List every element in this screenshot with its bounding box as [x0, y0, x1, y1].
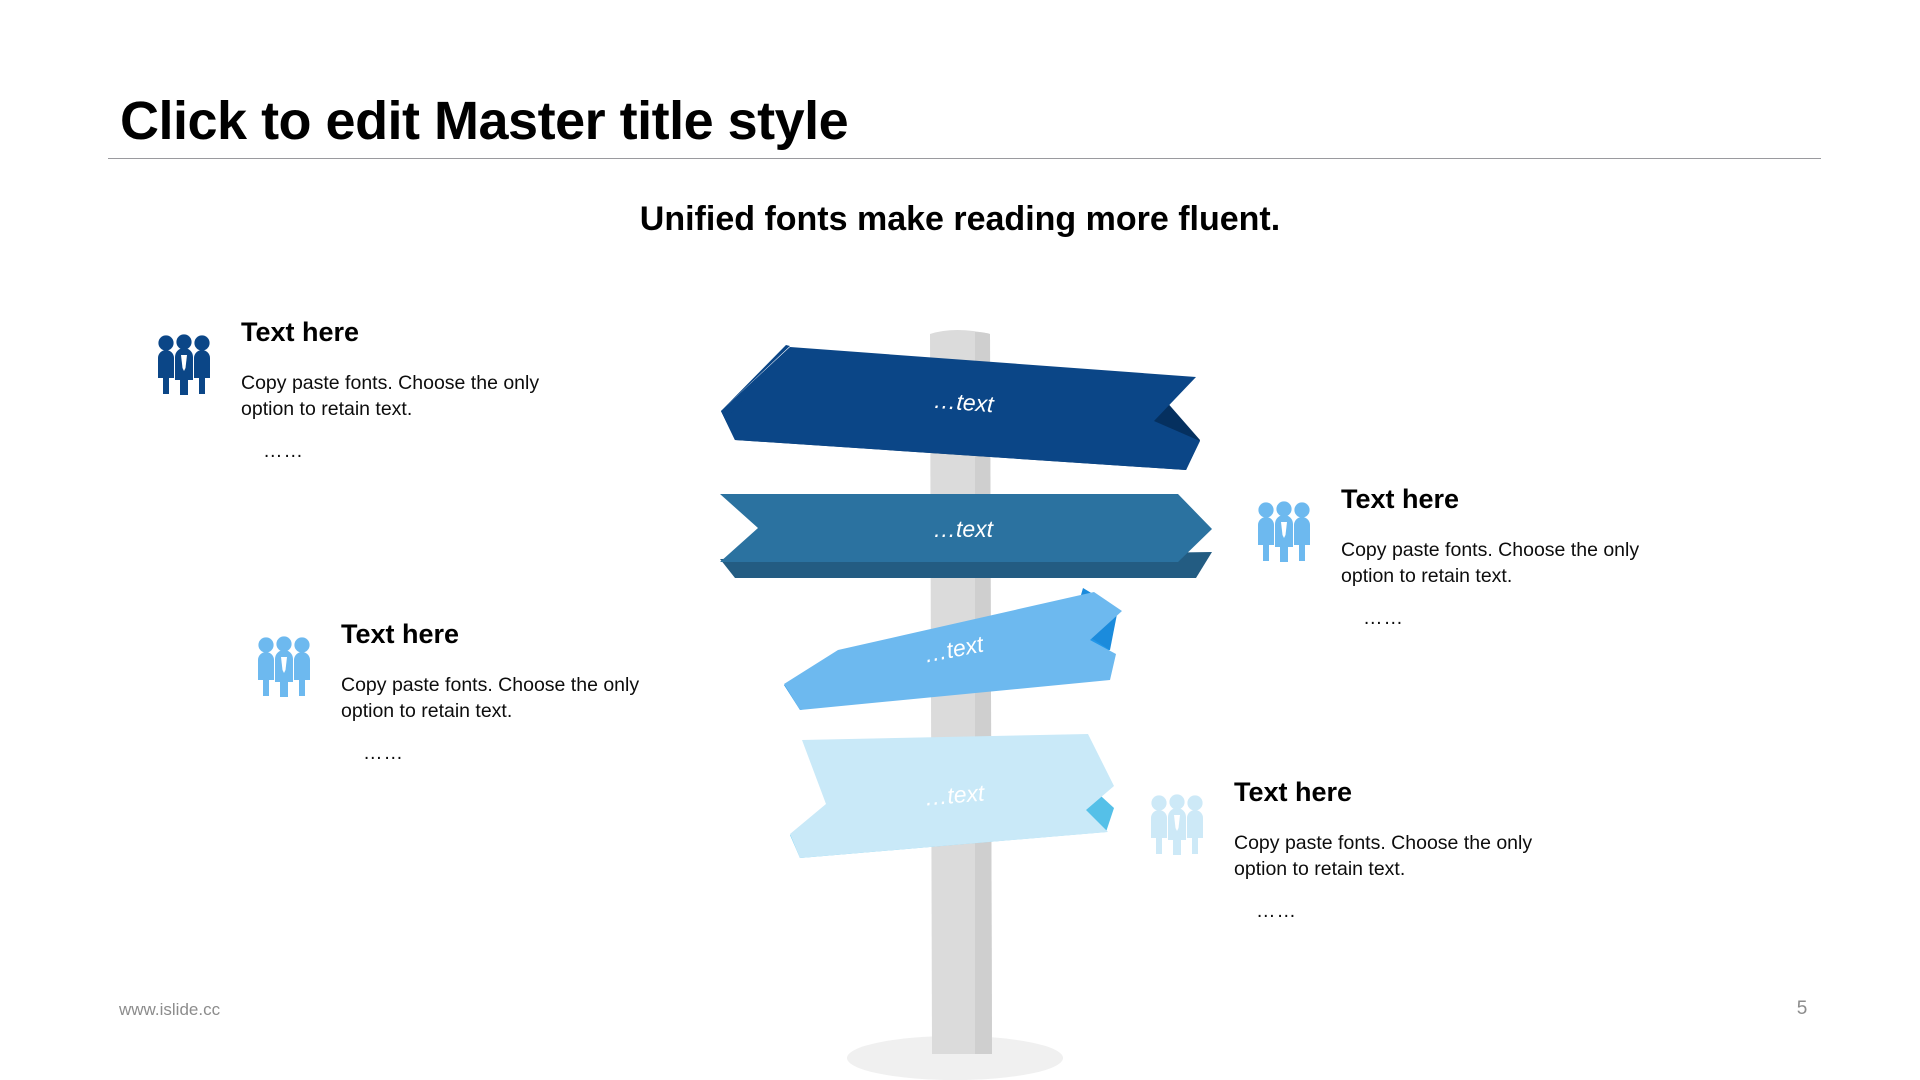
info-block-2-ellipsis: …… — [1363, 607, 1686, 630]
info-block-4-heading[interactable]: Text here — [1234, 778, 1579, 808]
info-block-1-ellipsis: …… — [263, 440, 586, 463]
info-block-1-heading[interactable]: Text here — [241, 318, 586, 348]
ground-shadow — [847, 1036, 1063, 1080]
info-block-2-paragraph[interactable]: Copy paste fonts. Choose the only option… — [1341, 537, 1686, 590]
info-block-4-paragraph[interactable]: Copy paste fonts. Choose the only option… — [1234, 830, 1579, 883]
info-block-3-paragraph[interactable]: Copy paste fonts. Choose the only option… — [341, 672, 686, 725]
title-divider — [108, 158, 1821, 159]
people-group-icon — [1148, 794, 1206, 856]
info-block-3-heading[interactable]: Text here — [341, 620, 686, 650]
info-block-4-body: Text here Copy paste fonts. Choose the o… — [1234, 778, 1579, 923]
info-block-4: Text here Copy paste fonts. Choose the o… — [1148, 778, 1579, 923]
sign-2[interactable] — [720, 494, 1212, 578]
info-block-1-paragraph[interactable]: Copy paste fonts. Choose the only option… — [241, 370, 586, 423]
info-block-1: Text here Copy paste fonts. Choose the o… — [155, 318, 586, 463]
signpost-pole — [930, 330, 992, 1054]
people-group-icon — [155, 334, 213, 396]
sign-3[interactable] — [784, 588, 1124, 711]
page-number: 5 — [1790, 998, 1814, 1020]
info-block-2-heading[interactable]: Text here — [1341, 485, 1686, 515]
info-block-3: Text here Copy paste fonts. Choose the o… — [255, 620, 686, 765]
info-block-4-ellipsis: …… — [1256, 900, 1579, 923]
info-block-3-ellipsis: …… — [363, 742, 686, 765]
sign-1-label: …text — [933, 387, 996, 417]
sign-1[interactable] — [721, 345, 1202, 470]
sign-4[interactable] — [790, 734, 1116, 858]
slide-subtitle[interactable]: Unified fonts make reading more fluent. — [0, 200, 1920, 239]
info-block-2: Text here Copy paste fonts. Choose the o… — [1255, 485, 1686, 630]
sign-4-label: …text — [923, 779, 987, 810]
people-group-icon — [1255, 501, 1313, 563]
info-block-3-body: Text here Copy paste fonts. Choose the o… — [341, 620, 686, 765]
footer-url[interactable]: www.islide.cc — [119, 1000, 220, 1020]
sign-2-label: …text — [933, 516, 995, 542]
info-block-1-body: Text here Copy paste fonts. Choose the o… — [241, 318, 586, 463]
info-block-2-body: Text here Copy paste fonts. Choose the o… — [1341, 485, 1686, 630]
page-title[interactable]: Click to edit Master title style — [120, 90, 848, 152]
sign-3-label: …text — [922, 630, 988, 667]
people-group-icon — [255, 636, 313, 698]
